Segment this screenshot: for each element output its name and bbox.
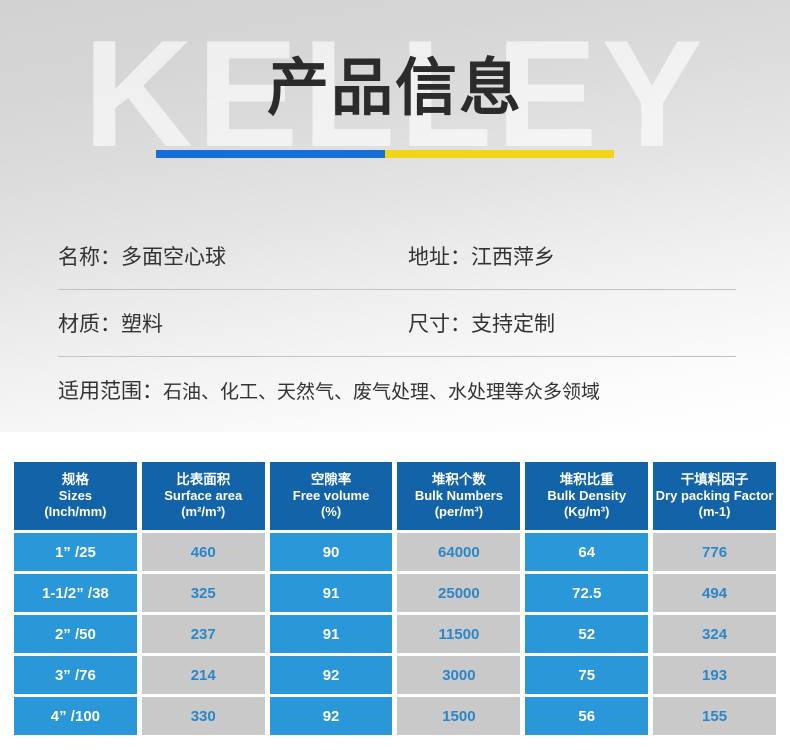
attribute-row: 名称：多面空心球 地址：江西萍乡 <box>58 222 736 289</box>
title-divider <box>156 150 614 158</box>
attribute-scope-value: 石油、化工、天然气、废气处理、水处理等众多领域 <box>163 382 600 403</box>
cell-size: 1-1/2” /38 <box>14 574 137 612</box>
cell-dry-factor: 155 <box>653 697 776 735</box>
divider-yellow-segment <box>385 150 614 158</box>
cell-size: 3” /76 <box>14 656 137 694</box>
attribute-size-value: 支持定制 <box>471 313 555 336</box>
header-unit: (Inch/mm) <box>44 504 106 520</box>
cell-bulk-number: 3000 <box>397 656 520 694</box>
cell-bulk-density: 52 <box>525 615 648 653</box>
attribute-name-value: 多面空心球 <box>121 246 226 269</box>
header-unit: (%) <box>321 504 341 520</box>
cell-surface: 325 <box>142 574 265 612</box>
header-cn: 堆积个数 <box>432 472 486 488</box>
header-en: Sizes <box>59 488 92 504</box>
page-title: 产品信息 <box>0 50 790 128</box>
product-info-page: KELLEY 产品信息 名称：多面空心球 地址：江西萍乡 材质：塑料 <box>0 0 790 750</box>
cell-dry-factor: 324 <box>653 615 776 653</box>
cell-bulk-density: 75 <box>525 656 648 694</box>
attribute-scope: 适用范围：石油、化工、天然气、废气处理、水处理等众多领域 <box>58 375 600 405</box>
attribute-address: 地址：江西萍乡 <box>408 241 555 271</box>
cell-bulk-number: 64000 <box>397 533 520 571</box>
table-row: 1” /25 460 90 64000 64 776 <box>14 533 776 571</box>
cell-dry-factor: 494 <box>653 574 776 612</box>
cell-free-volume: 92 <box>270 697 393 735</box>
cell-bulk-number: 1500 <box>397 697 520 735</box>
cell-free-volume: 92 <box>270 656 393 694</box>
header-cn: 堆积比重 <box>560 472 614 488</box>
attribute-material-value: 塑料 <box>121 313 163 336</box>
cell-free-volume: 91 <box>270 615 393 653</box>
header-cn: 规格 <box>62 472 89 488</box>
header-unit: (Kg/m³) <box>564 504 610 520</box>
header-en: Bulk Density <box>547 488 626 504</box>
table-header-cell-bulk-numbers: 堆积个数 Bulk Numbers (per/m³) <box>397 462 520 530</box>
table-header-cell-dry-packing-factor: 干填料因子 Dry packing Factor (m-1) <box>653 462 776 530</box>
header-unit: (m²/m³) <box>181 504 225 520</box>
cell-bulk-density: 56 <box>525 697 648 735</box>
header-banner: KELLEY 产品信息 名称：多面空心球 地址：江西萍乡 材质：塑料 <box>0 0 790 432</box>
table-row: 3” /76 214 92 3000 75 193 <box>14 656 776 694</box>
cell-surface: 460 <box>142 533 265 571</box>
attribute-material: 材质：塑料 <box>58 308 408 338</box>
header-en: Dry packing Factor <box>656 488 774 504</box>
table-row: 4” /100 330 92 1500 56 155 <box>14 697 776 735</box>
cell-free-volume: 91 <box>270 574 393 612</box>
cell-free-volume: 90 <box>270 533 393 571</box>
attribute-size: 尺寸：支持定制 <box>408 308 555 338</box>
header-cn: 比表面积 <box>176 472 230 488</box>
attribute-address-label: 地址： <box>408 246 471 269</box>
cell-dry-factor: 193 <box>653 656 776 694</box>
attribute-row-scope: 适用范围：石油、化工、天然气、废气处理、水处理等众多领域 <box>58 356 736 423</box>
cell-size: 2” /50 <box>14 615 137 653</box>
table-header-cell-bulk-density: 堆积比重 Bulk Density (Kg/m³) <box>525 462 648 530</box>
divider-blue-segment <box>156 150 385 158</box>
attribute-size-label: 尺寸： <box>408 313 471 336</box>
specification-table: 规格 Sizes (Inch/mm) 比表面积 Surface area (m²… <box>14 462 776 735</box>
product-attributes: 名称：多面空心球 地址：江西萍乡 材质：塑料 尺寸：支持定制 适用范围：石油、化… <box>58 222 736 423</box>
cell-dry-factor: 776 <box>653 533 776 571</box>
cell-surface: 214 <box>142 656 265 694</box>
header-en: Bulk Numbers <box>415 488 503 504</box>
cell-surface: 237 <box>142 615 265 653</box>
header-cn: 空隙率 <box>311 472 352 488</box>
attribute-name: 名称：多面空心球 <box>58 241 408 271</box>
header-unit: (per/m³) <box>435 504 483 520</box>
attribute-name-label: 名称： <box>58 246 121 269</box>
cell-bulk-number: 11500 <box>397 615 520 653</box>
header-en: Free volume <box>293 488 370 504</box>
table-header-cell-surface-area: 比表面积 Surface area (m²/m³) <box>142 462 265 530</box>
table-header-row: 规格 Sizes (Inch/mm) 比表面积 Surface area (m²… <box>14 462 776 530</box>
header-unit: (m-1) <box>699 504 731 520</box>
header-en: Surface area <box>164 488 242 504</box>
table-row: 2” /50 237 91 11500 52 324 <box>14 615 776 653</box>
table-header-cell-sizes: 规格 Sizes (Inch/mm) <box>14 462 137 530</box>
attribute-scope-label: 适用范围： <box>58 380 163 403</box>
table-header-cell-free-volume: 空隙率 Free volume (%) <box>270 462 393 530</box>
cell-bulk-density: 72.5 <box>525 574 648 612</box>
attribute-row: 材质：塑料 尺寸：支持定制 <box>58 289 736 356</box>
header-cn: 干填料因子 <box>681 472 749 488</box>
cell-bulk-number: 25000 <box>397 574 520 612</box>
table-row: 1-1/2” /38 325 91 25000 72.5 494 <box>14 574 776 612</box>
cell-surface: 330 <box>142 697 265 735</box>
attribute-material-label: 材质： <box>58 313 121 336</box>
attribute-address-value: 江西萍乡 <box>471 246 555 269</box>
cell-size: 4” /100 <box>14 697 137 735</box>
cell-size: 1” /25 <box>14 533 137 571</box>
cell-bulk-density: 64 <box>525 533 648 571</box>
